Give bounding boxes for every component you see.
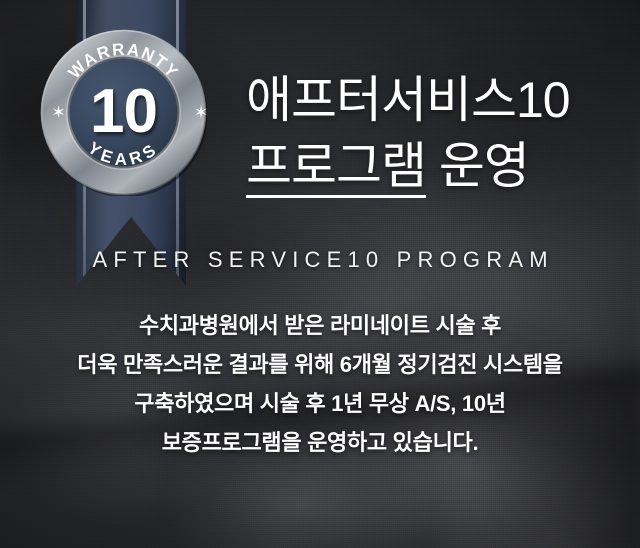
headline-line-2: 프로그램 운영 (246, 133, 570, 199)
body-line: 보증프로그램을 운영하고 있습니다. (0, 423, 640, 462)
warranty-seal-icon: WARRANTY YEARS ✶ ✶ 10 (40, 29, 207, 196)
body-line: 수치과병원에서 받은 라미네이트 시술 후 (0, 306, 640, 345)
after-service-banner: WARRANTY YEARS ✶ ✶ 10 애프터서비스10 프로그램 운영 A… (0, 0, 640, 548)
headline-line-1: 애프터서비스10 (246, 67, 570, 133)
headline-underlined-word: 프로그램 (246, 138, 426, 198)
headline-line-2-rest: 운영 (426, 138, 529, 194)
body-line: 더욱 만족스러운 결과를 위해 6개월 정기검진 시스템을 (0, 345, 640, 384)
body-copy: 수치과병원에서 받은 라미네이트 시술 후 더욱 만족스러운 결과를 위해 6개… (0, 306, 640, 462)
body-line: 구축하였으며 시술 후 1년 무상 A/S, 10년 (0, 384, 640, 423)
badge-number: 10 (40, 80, 207, 142)
subtitle: AFTER SERVICE10 PROGRAM (0, 247, 640, 273)
page-title: 애프터서비스10 프로그램 운영 (246, 67, 570, 199)
